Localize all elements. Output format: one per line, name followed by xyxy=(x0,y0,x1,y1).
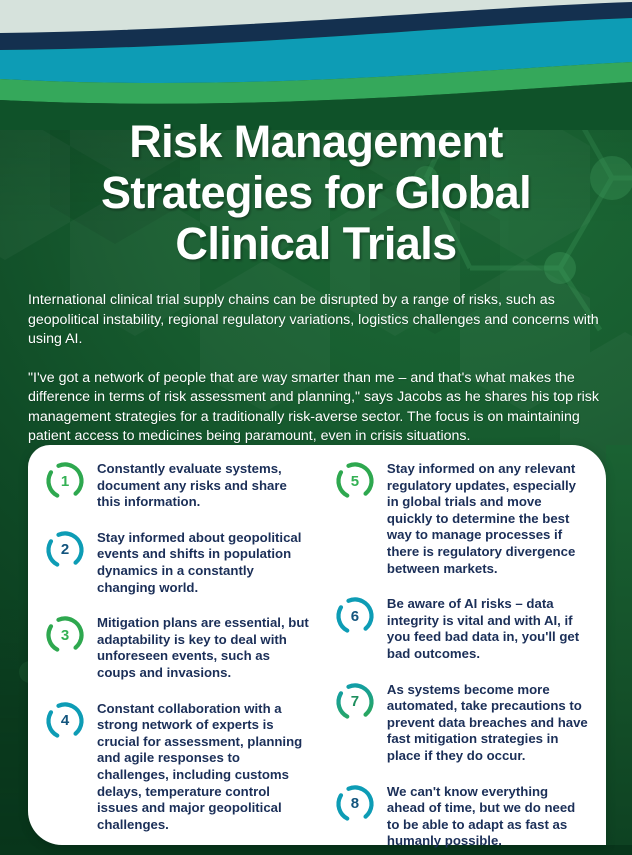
tip-item-3: 3 Mitigation plans are essential, but ad… xyxy=(44,613,312,681)
number-badge-ring-icon-5: 5 xyxy=(334,460,376,502)
tips-card: 1 Constantly evaluate systems, document … xyxy=(28,445,606,845)
tip-item-7: 7 As systems become more automated, take… xyxy=(334,680,588,765)
tip-item-6: 6 Be aware of AI risks – data integrity … xyxy=(334,594,588,662)
tip-number-4: 4 xyxy=(44,700,86,742)
tips-column-right: 5 Stay informed on any relevant regulato… xyxy=(322,459,594,835)
tip-text-6: Be aware of AI risks – data integrity is… xyxy=(387,594,588,662)
number-badge-ring-icon-2: 2 xyxy=(44,529,86,571)
tip-item-5: 5 Stay informed on any relevant regulato… xyxy=(334,459,588,577)
tip-number-3: 3 xyxy=(44,614,86,656)
tip-item-2: 2 Stay informed about geopolitical event… xyxy=(44,528,312,596)
intro-section: International clinical trial supply chai… xyxy=(28,291,604,447)
tip-number-2: 2 xyxy=(44,529,86,571)
intro-paragraph-2: "I've got a network of people that are w… xyxy=(28,369,604,447)
page-title-line-1: Risk Management xyxy=(129,116,503,167)
card-right-edge-strip xyxy=(606,445,632,845)
number-badge-ring-icon-8: 8 xyxy=(334,783,376,825)
page-title-line-2: Strategies for Global xyxy=(101,167,531,218)
tip-number-7: 7 xyxy=(334,681,376,723)
number-badge-ring-icon-6: 6 xyxy=(334,595,376,637)
tips-column-left: 1 Constantly evaluate systems, document … xyxy=(44,459,316,835)
page-title-container: Risk Management Strategies for Global Cl… xyxy=(0,116,632,269)
tip-item-8: 8 We can't know everything ahead of time… xyxy=(334,782,588,850)
tip-number-8: 8 xyxy=(334,783,376,825)
tip-number-5: 5 xyxy=(334,460,376,502)
tip-text-7: As systems become more automated, take p… xyxy=(387,680,588,765)
tip-item-4: 4 Constant collaboration with a strong n… xyxy=(44,699,312,834)
tip-number-6: 6 xyxy=(334,595,376,637)
tip-text-2: Stay informed about geopolitical events … xyxy=(97,528,312,596)
intro-paragraph-1: International clinical trial supply chai… xyxy=(28,291,604,350)
page-title-line-3: Clinical Trials xyxy=(175,218,456,269)
tip-text-4: Constant collaboration with a strong net… xyxy=(97,699,312,834)
header-swoosh-graphic xyxy=(0,0,632,130)
number-badge-ring-icon-1: 1 xyxy=(44,460,86,502)
infographic-poster: Risk Management Strategies for Global Cl… xyxy=(0,0,632,855)
page-title: Risk Management Strategies for Global Cl… xyxy=(46,116,586,269)
tip-item-1: 1 Constantly evaluate systems, document … xyxy=(44,459,312,511)
tip-number-1: 1 xyxy=(44,460,86,502)
number-badge-ring-icon-7: 7 xyxy=(334,681,376,723)
number-badge-ring-icon-3: 3 xyxy=(44,614,86,656)
tip-text-3: Mitigation plans are essential, but adap… xyxy=(97,613,312,681)
tip-text-1: Constantly evaluate systems, document an… xyxy=(97,459,312,511)
tip-text-8: We can't know everything ahead of time, … xyxy=(387,782,588,850)
number-badge-ring-icon-4: 4 xyxy=(44,700,86,742)
tip-text-5: Stay informed on any relevant regulatory… xyxy=(387,459,588,577)
